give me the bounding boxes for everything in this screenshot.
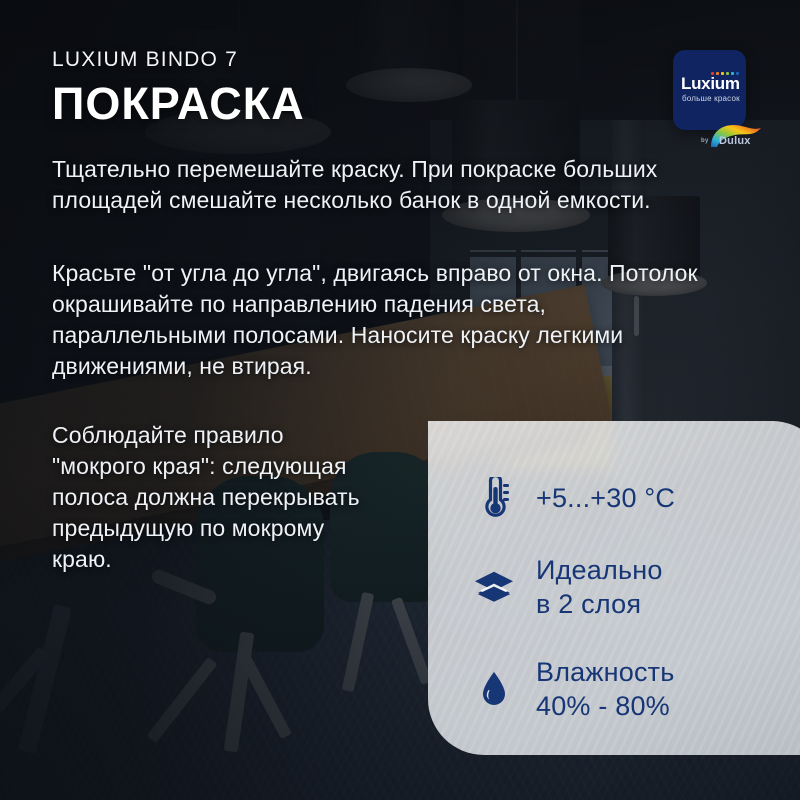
spec-row-humidity: Влажность 40% - 80%	[474, 655, 794, 723]
spec-row-layers: Идеально в 2 слоя	[474, 553, 794, 621]
by-dulux-mark: by Dulux	[701, 123, 763, 149]
content-layer: LUXIUM BINDO 7 ПОКРАСКА Luxium больше кр…	[0, 0, 800, 800]
spec-line-2: в 2 слоя	[536, 587, 663, 621]
spec-card: +5...+30 °C Идеально в 2 сл	[428, 421, 800, 755]
poster: LUXIUM BINDO 7 ПОКРАСКА Luxium больше кр…	[0, 0, 800, 800]
logo-tagline: больше красок	[682, 94, 740, 103]
spec-text-humidity: Влажность 40% - 80%	[536, 655, 675, 723]
spec-line-1: Идеально	[536, 553, 663, 587]
spec-list: +5...+30 °C Идеально в 2 сл	[474, 477, 794, 723]
spec-text-layers: Идеально в 2 слоя	[536, 553, 663, 621]
page-title: ПОКРАСКА	[52, 78, 305, 130]
logo-brand-text: Luxium	[681, 74, 740, 94]
product-kicker: LUXIUM BINDO 7	[52, 48, 238, 72]
luxium-logo-badge: Luxium больше красок	[673, 50, 746, 130]
instruction-paragraph-1: Тщательно перемешайте краску. При покрас…	[52, 154, 724, 216]
instruction-paragraph-3: Соблюдайте правило "мокрого края": следу…	[52, 420, 382, 575]
spec-line-1: +5...+30 °C	[536, 481, 675, 515]
spec-row-temperature: +5...+30 °C	[474, 477, 794, 519]
layers-icon	[474, 570, 514, 604]
spec-text-temperature: +5...+30 °C	[536, 481, 675, 515]
spec-line-2: 40% - 80%	[536, 689, 675, 723]
thermometer-icon	[474, 477, 514, 519]
water-drop-icon	[474, 670, 514, 708]
spec-line-1: Влажность	[536, 655, 675, 689]
dulux-brand-label: Dulux	[719, 135, 751, 147]
instruction-paragraph-2: Красьте "от угла до угла", двигаясь впра…	[52, 258, 724, 382]
dulux-by-label: by	[701, 138, 709, 144]
